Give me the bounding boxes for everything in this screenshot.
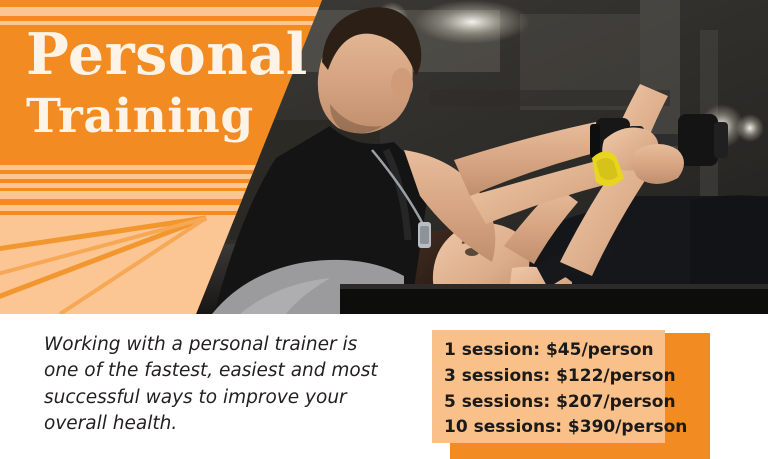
description-text: Working with a personal trainer is one o…	[44, 332, 384, 437]
bottom-section: Working with a personal trainer is one o…	[0, 314, 768, 459]
personal-training-poster: Personal Training Working with a persona…	[0, 0, 768, 459]
price-row: 3 sessions: $122/person	[444, 364, 665, 390]
price-row: 10 sessions: $390/person	[444, 415, 665, 441]
top-stripes	[0, 7, 340, 25]
pricing-card: 1 session: $45/person 3 sessions: $122/p…	[432, 330, 665, 443]
hero-banner: Personal Training	[0, 0, 768, 314]
price-row: 1 session: $45/person	[444, 338, 665, 364]
price-row: 5 sessions: $207/person	[444, 390, 665, 416]
